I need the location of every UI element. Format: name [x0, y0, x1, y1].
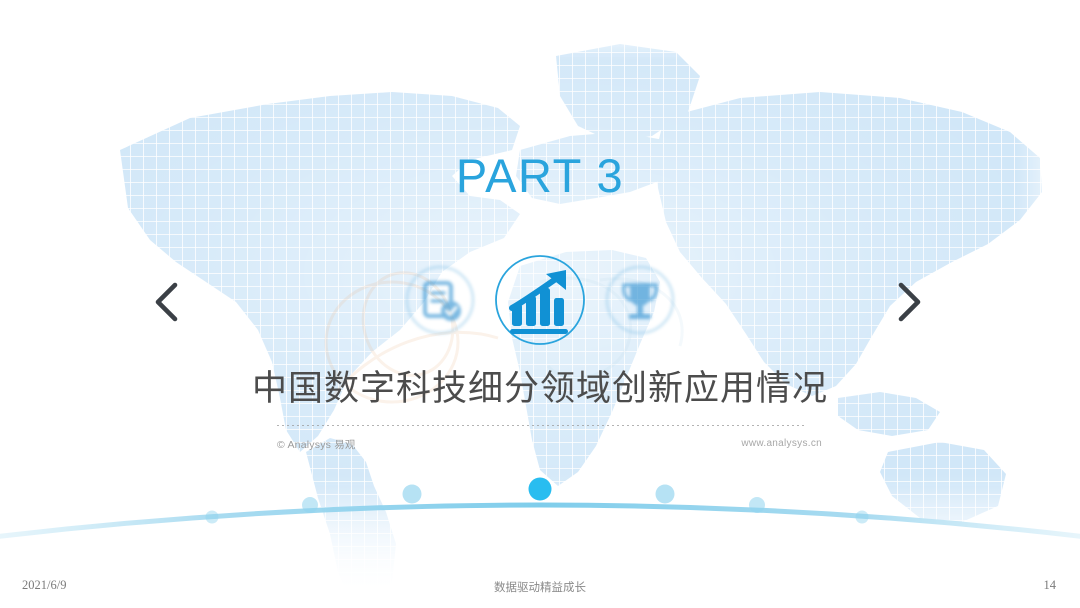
page-title: 中国数字科技细分领域创新应用情况	[0, 369, 1080, 409]
copyright-text: © Analysys 易观	[277, 437, 356, 452]
progress-dot[interactable]	[403, 485, 422, 504]
website-url: www.analysys.cn	[741, 438, 822, 449]
document-check-icon	[401, 261, 479, 339]
slide-root: PART 3	[0, 0, 1080, 608]
title-divider	[277, 424, 804, 426]
progress-dot[interactable]	[856, 511, 869, 524]
progress-dot[interactable]	[206, 511, 219, 524]
progress-dot-active[interactable]	[529, 478, 552, 501]
footer-page-number: 14	[1044, 578, 1057, 593]
progress-arc	[0, 455, 1080, 545]
icon-slot-next-section[interactable]	[580, 240, 700, 360]
progress-dot[interactable]	[302, 497, 318, 513]
progress-dot[interactable]	[749, 497, 765, 513]
bar-chart-growth-icon	[486, 246, 594, 354]
footer-tagline: 数据驱动精益成长	[0, 579, 1080, 595]
section-icon-cluster	[0, 240, 1080, 360]
progress-dot[interactable]	[656, 485, 675, 504]
part-label: PART 3	[0, 152, 1080, 199]
trophy-icon	[601, 261, 679, 339]
